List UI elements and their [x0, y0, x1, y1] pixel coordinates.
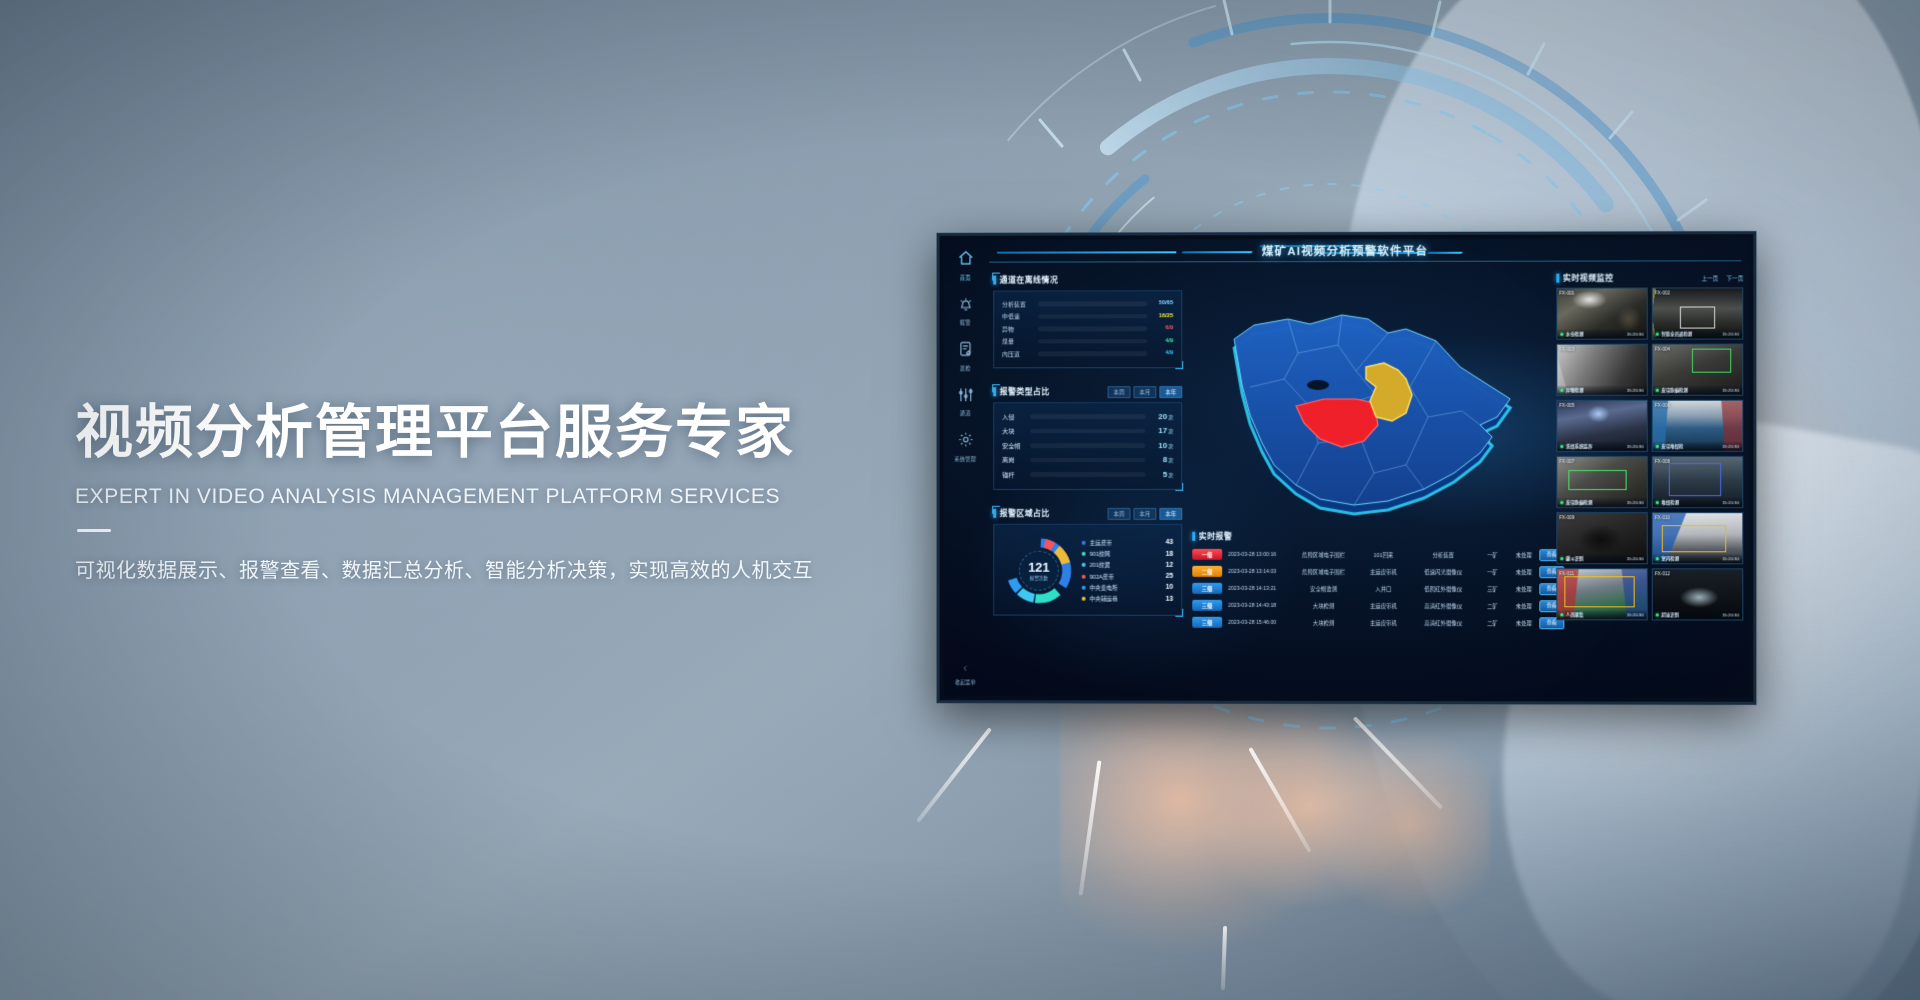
- alarm-level-badge: 一级: [1192, 549, 1222, 560]
- video-camera-id: FX-005: [1559, 402, 1574, 407]
- alarm-type-bar-track: [1030, 458, 1145, 462]
- status-dot-icon: [1656, 557, 1659, 560]
- video-name: 罐斗识别: [1566, 556, 1584, 562]
- legend-value: 10: [1166, 584, 1174, 591]
- alarm-status: 未处理: [1509, 551, 1539, 559]
- video-cell[interactable]: FX-011 人员聚集15:20:30: [1556, 568, 1647, 620]
- video-panel-header: 实时视频监控 上一页 下一页: [1556, 272, 1743, 283]
- alarm-device: 高清红外摄像仪: [1410, 602, 1476, 610]
- channel-value: 50/65: [1147, 301, 1173, 307]
- table-row[interactable]: 三级 2023-03-28 14:13:21 安全帽监测 入井口 低照红外摄像仪…: [1192, 580, 1564, 597]
- alarm-type-value: 5次: [1145, 470, 1173, 479]
- video-cell[interactable]: FX-012 超速识别15:20:30: [1652, 568, 1744, 620]
- video-camera-id: FX-008: [1655, 458, 1670, 463]
- legend-value: 13: [1166, 596, 1174, 603]
- video-name: 皮带跑偏检测: [1661, 387, 1688, 393]
- alarm-mine: 一矿: [1476, 568, 1508, 576]
- video-name: 皮带跑偏检测: [1566, 500, 1592, 506]
- video-camera-id: FX-003: [1559, 346, 1574, 351]
- alarm-device: 低照红外摄像仪: [1410, 585, 1476, 593]
- alarm-type-value: 10次: [1145, 441, 1173, 450]
- tab-area-this-month[interactable]: 本月: [1133, 507, 1156, 519]
- tab-area-this-year[interactable]: 本年: [1159, 507, 1182, 519]
- channel-name: 分析装置: [1002, 299, 1038, 308]
- status-dot-icon: [1560, 501, 1563, 504]
- alarm-table-title-wrap: 实时报警: [1192, 531, 1564, 542]
- alarm-device: 高清红外摄像仪: [1410, 619, 1476, 627]
- sidebar-item-channel[interactable]: 通道: [944, 386, 988, 417]
- legend-dot-icon: [1082, 563, 1086, 567]
- alarm-type-name: 离岗: [1002, 455, 1030, 464]
- sidebar-label-channel: 通道: [960, 410, 971, 417]
- alarm-area-tabs: 本周 本月 本年: [1107, 507, 1182, 519]
- legend-value: 43: [1166, 539, 1174, 546]
- channel-row: 分析装置 50/65: [1002, 297, 1173, 310]
- tab-this-year[interactable]: 本年: [1159, 386, 1182, 398]
- next-page-button[interactable]: 下一页: [1726, 274, 1743, 282]
- hero-description: 可视化数据展示、报警查看、数据汇总分析、智能分析决策，实现高效的人机交互: [75, 554, 895, 583]
- video-time: 15:20:30: [1722, 612, 1739, 617]
- alarm-time: 2023-03-28 13:00:16: [1222, 551, 1290, 557]
- sidebar-label-inspection: 巡检: [960, 365, 971, 372]
- alarm-type-row: 安全帽 10次: [1002, 438, 1173, 453]
- realtime-video-panel: 实时视频监控 上一页 下一页 FX-001 水仓检测15:20:30: [1556, 272, 1743, 691]
- sidebar-collapse-label: 收起菜单: [944, 679, 988, 686]
- alarm-location: 入井口: [1357, 585, 1411, 593]
- home-icon: [957, 250, 974, 272]
- panel-channel-body: 分析装置 50/65 中低速 16/25 异物 6/9: [993, 290, 1182, 368]
- panel-alarm-type-body: 入侵 20次 大块 17次 安全帽 10次 离: [993, 402, 1182, 489]
- sidebar-item-home[interactable]: 首页: [944, 250, 988, 281]
- alarm-type: 大块检测: [1291, 618, 1357, 626]
- dashboard-monitor: 煤矿AI视频分析预警软件平台 首页 报警 巡检: [937, 231, 1757, 705]
- video-cell[interactable]: FX-010 室内检测15:20:30: [1652, 512, 1744, 564]
- panel-tick-icon: [1192, 532, 1194, 541]
- legend-name: 主运皮带: [1090, 539, 1166, 547]
- video-time: 15:20:30: [1627, 388, 1644, 393]
- alarm-type-value: 20次: [1145, 412, 1173, 421]
- video-time: 15:20:30: [1627, 500, 1644, 505]
- alarm-type-value: 17次: [1145, 426, 1173, 435]
- video-name: 人员聚集: [1566, 612, 1584, 618]
- video-name: 水仓检测: [1566, 331, 1584, 337]
- video-camera-id: FX-001: [1559, 290, 1574, 295]
- video-time: 15:20:30: [1627, 556, 1644, 561]
- hero-text-block: 视频分析管理平台服务专家 EXPERT IN VIDEO ANALYSIS MA…: [75, 400, 895, 583]
- legend-name: 中央辅运巷: [1090, 595, 1166, 603]
- panel-tick-icon: [1556, 274, 1559, 283]
- panel-channel-status: 通道在离线情况 分析装置 50/65 中低速 16/25 异: [993, 273, 1182, 368]
- video-camera-id: FX-011: [1559, 571, 1574, 576]
- video-camera-id: FX-006: [1655, 402, 1670, 407]
- panel-tick-icon: [993, 509, 995, 518]
- video-cell[interactable]: FX-004 皮带跑偏检测15:20:30: [1652, 344, 1744, 396]
- alarm-type-name: 入侵: [1002, 412, 1030, 421]
- video-cell[interactable]: FX-003 异物检测15:20:30: [1556, 344, 1647, 396]
- video-camera-id: FX-007: [1559, 458, 1574, 463]
- video-name: 异物检测: [1566, 387, 1584, 393]
- alarm-type-bar-track: [1030, 472, 1145, 476]
- video-cell[interactable]: FX-009 罐斗识别15:20:30: [1556, 512, 1647, 564]
- panel-tick-icon: [993, 276, 995, 285]
- region-map[interactable]: [1192, 275, 1552, 545]
- channel-name: 异物: [1002, 324, 1038, 333]
- channel-name: 中低速: [1002, 312, 1038, 321]
- alarm-device: 低速闪光摄像仪: [1410, 568, 1476, 576]
- video-cell[interactable]: FX-005 洗煤系统监界15:20:30: [1556, 400, 1647, 452]
- alarm-type-tabs: 本周 本月 本年: [1107, 386, 1182, 398]
- alarm-status: 未处理: [1509, 619, 1539, 627]
- channel-bar-track: [1038, 326, 1147, 331]
- channel-name: 煤量: [1002, 337, 1038, 346]
- alarm-type-name: 大块: [1002, 426, 1030, 435]
- video-time: 15:20:30: [1722, 444, 1739, 449]
- video-cell[interactable]: FX-008 堆煤检测15:20:30: [1652, 456, 1744, 508]
- table-row[interactable]: 三级 2023-03-28 14:43:18 大块检测 主运皮带机 高清红外摄像…: [1192, 597, 1564, 614]
- panel-alarm-area: 报警区域占比 本周 本月 本年: [993, 507, 1182, 616]
- video-camera-id: FX-010: [1655, 515, 1670, 520]
- panel-channel-title: 通道在离线情况: [1000, 274, 1058, 285]
- alarm-status: 未处理: [1509, 602, 1539, 610]
- video-name: 室内检测: [1661, 556, 1679, 562]
- hero-subtitle-en: EXPERT IN VIDEO ANALYSIS MANAGEMENT PLAT…: [75, 485, 895, 509]
- alarm-icon: [957, 295, 974, 317]
- legend-name: 901绞网: [1090, 550, 1166, 558]
- alarm-type-row: 离岗 8次: [1002, 453, 1173, 467]
- video-time: 15:20:30: [1722, 388, 1739, 393]
- status-dot-icon: [1560, 389, 1563, 392]
- open-hand: [1060, 680, 1490, 980]
- alarm-status: 未处理: [1509, 568, 1539, 576]
- legend-item: 主运皮带 43: [1082, 537, 1174, 548]
- video-name: 智能全员通检测: [1661, 331, 1692, 337]
- collapse-icon: [961, 659, 969, 676]
- hero-divider: [77, 529, 111, 532]
- legend-dot-icon: [1082, 552, 1086, 556]
- alarm-mine: 一矿: [1476, 551, 1508, 559]
- alarm-time: 2023-03-28 14:43:18: [1222, 602, 1290, 608]
- alarm-level-badge: 三级: [1192, 600, 1222, 611]
- video-time: 15:20:30: [1722, 332, 1739, 337]
- alarm-device: 分析装置: [1410, 551, 1476, 559]
- channel-value: 4/9: [1147, 350, 1173, 356]
- video-cell[interactable]: FX-006 皮带堆煤检15:20:30: [1652, 400, 1744, 452]
- alarm-type-name: 安全帽: [1002, 441, 1030, 450]
- panel-alarm-area-body: 121 报警次数 主运皮带 43: [993, 524, 1182, 616]
- alarm-type: 大块检测: [1291, 601, 1357, 609]
- legend-name: 902A皮带: [1090, 572, 1166, 580]
- channel-row: 煤量 4/9: [1002, 335, 1173, 348]
- channel-bar-track: [1038, 351, 1147, 356]
- alarm-type-row: 大块 17次: [1002, 424, 1173, 439]
- channel-icon: [957, 386, 974, 408]
- status-dot-icon: [1656, 445, 1659, 448]
- channel-name: 内压道: [1002, 349, 1038, 358]
- channel-row: 内压道 4/9: [1002, 347, 1173, 360]
- video-camera-id: FX-009: [1559, 515, 1574, 520]
- video-camera-id: FX-002: [1655, 290, 1670, 295]
- donut-center: 121 报警次数: [1019, 551, 1059, 591]
- status-dot-icon: [1656, 333, 1659, 336]
- video-name: 超速识别: [1661, 612, 1679, 618]
- prev-page-button[interactable]: 上一页: [1701, 274, 1718, 282]
- alarm-type-row: 锚杆 5次: [1002, 467, 1173, 481]
- video-panel-title: 实时视频监控: [1563, 273, 1614, 284]
- alarm-level-badge: 三级: [1192, 617, 1222, 628]
- alarm-type: 安全帽监测: [1291, 584, 1357, 592]
- alarm-level-badge: 二级: [1192, 566, 1222, 577]
- table-row[interactable]: 一级 2023-03-28 13:00:16 危险区域电子围栏 101回采 分析…: [1192, 546, 1564, 563]
- panel-alarm-type: 报警类型占比 本周 本月 本年 入侵 20次 大块: [993, 385, 1182, 489]
- legend-name: 201绞翼: [1090, 561, 1166, 569]
- panel-tick-icon: [993, 387, 995, 396]
- sidebar-label-system-settings: 系统管理: [954, 456, 976, 463]
- panel-alarm-type-title-wrap: 报警类型占比: [993, 386, 1050, 397]
- panel-channel-title-wrap: 通道在离线情况: [993, 274, 1058, 285]
- legend-value: 18: [1166, 550, 1174, 557]
- alarm-type-bar-track: [1030, 414, 1145, 419]
- alarm-table-title: 实时报警: [1199, 531, 1233, 542]
- panel-alarm-area-title: 报警区域占比: [1000, 508, 1050, 519]
- sidebar-label-alarm: 报警: [960, 319, 971, 326]
- video-panel-title-wrap: 实时视频监控: [1556, 273, 1613, 284]
- alarm-location: 主运皮带机: [1357, 568, 1411, 576]
- legend-value: 12: [1166, 562, 1174, 569]
- legend-dot-icon: [1082, 541, 1086, 545]
- donut-center-label: 报警次数: [1030, 575, 1048, 581]
- panel-alarm-type-title: 报警类型占比: [1000, 386, 1050, 397]
- sidebar-label-home: 首页: [960, 274, 971, 281]
- legend-dot-icon: [1082, 586, 1086, 590]
- legend-name: 中央变电所: [1090, 584, 1166, 592]
- alarm-time: 2023-03-28 14:13:21: [1222, 585, 1290, 591]
- alarm-mine: 二矿: [1476, 602, 1508, 610]
- legend-item: 901绞网 18: [1082, 548, 1174, 559]
- channel-bar-track: [1038, 301, 1147, 306]
- inspection-icon: [957, 340, 974, 362]
- alarm-location: 主运皮带机: [1357, 602, 1411, 610]
- video-cell[interactable]: FX-001 水仓检测15:20:30: [1556, 288, 1647, 340]
- sidebar-collapse-button[interactable]: 收起菜单: [944, 659, 988, 686]
- channel-row: 异物 6/9: [1002, 322, 1173, 335]
- status-dot-icon: [1656, 501, 1659, 504]
- tab-this-month[interactable]: 本月: [1133, 386, 1156, 398]
- table-row[interactable]: 三级 2023-03-28 15:46:00 大块检测 主运皮带机 高清红外摄像…: [1192, 614, 1564, 632]
- alarm-type: 危险区域电子围栏: [1291, 550, 1357, 558]
- realtime-alarm-panel: 实时报警 一级 2023-03-28 13:00:16 危险区域电子围栏 101…: [1192, 531, 1564, 631]
- legend-item: 201绞翼 12: [1082, 559, 1174, 570]
- legend-item: 中央变电所 10: [1082, 582, 1174, 593]
- video-time: 15:20:30: [1627, 612, 1644, 617]
- status-dot-icon: [1560, 445, 1563, 448]
- legend-dot-icon: [1082, 597, 1086, 601]
- video-grid: FX-001 水仓检测15:20:30 FX-002 智能全员通检测15:20:…: [1556, 287, 1743, 620]
- video-camera-id: FX-004: [1655, 346, 1670, 351]
- status-dot-icon: [1656, 613, 1659, 616]
- alarm-status: 未处理: [1509, 585, 1539, 593]
- alarm-type-row: 入侵 20次: [1002, 409, 1173, 424]
- alarm-location: 主运皮带机: [1357, 619, 1411, 627]
- table-row[interactable]: 二级 2023-03-28 13:14:03 危险区域电子围栏 主运皮带机 低速…: [1192, 563, 1564, 580]
- channel-row: 中低速 16/25: [1002, 310, 1173, 323]
- legend-value: 25: [1166, 573, 1174, 580]
- alarm-level-badge: 三级: [1192, 583, 1222, 594]
- channel-bar-track: [1038, 314, 1147, 319]
- video-time: 15:20:30: [1627, 332, 1644, 337]
- video-name: 皮带堆煤检: [1661, 443, 1683, 449]
- sidebar-item-inspection[interactable]: 巡检: [944, 340, 988, 371]
- alarm-type-bar-track: [1030, 443, 1145, 448]
- page-title: 视频分析管理平台服务专家: [75, 400, 895, 467]
- tab-area-this-week[interactable]: 本周: [1107, 507, 1130, 519]
- tab-this-week[interactable]: 本周: [1107, 386, 1130, 398]
- video-cell[interactable]: FX-002 智能全员通检测15:20:30: [1652, 287, 1744, 339]
- channel-value: 4/9: [1147, 338, 1173, 344]
- channel-value: 16/25: [1147, 313, 1173, 319]
- sidebar-item-system-settings[interactable]: 系统管理: [944, 431, 988, 462]
- video-pager: 上一页 下一页: [1701, 274, 1743, 282]
- status-dot-icon: [1560, 557, 1563, 560]
- alarm-type: 危险区域电子围栏: [1291, 567, 1357, 575]
- alarm-location: 101回采: [1357, 551, 1411, 559]
- status-dot-icon: [1560, 333, 1563, 336]
- video-name: 洗煤系统监界: [1566, 443, 1592, 449]
- video-time: 15:20:30: [1722, 500, 1739, 505]
- status-dot-icon: [1656, 389, 1659, 392]
- gear-icon: [957, 431, 974, 453]
- alarm-area-legend: 主运皮带 43 901绞网 18 201绞翼 12: [1082, 537, 1174, 605]
- legend-item: 902A皮带 25: [1082, 571, 1174, 582]
- video-cell[interactable]: FX-007 皮带跑偏检测15:20:30: [1556, 456, 1647, 508]
- alarm-type-value: 8次: [1145, 455, 1173, 464]
- status-dot-icon: [1560, 613, 1563, 616]
- channel-value: 6/9: [1147, 325, 1173, 331]
- channel-bar-track: [1038, 339, 1147, 344]
- alarm-type-name: 锚杆: [1002, 470, 1030, 479]
- alarm-time: 2023-03-28 15:46:00: [1222, 619, 1290, 625]
- dashboard-screen: 煤矿AI视频分析预警软件平台 首页 报警 巡检: [944, 238, 1750, 698]
- dashboard-sidebar: 首页 报警 巡检 通道: [944, 240, 988, 697]
- alarm-type-bar-track: [1030, 429, 1145, 434]
- legend-item: 中央辅运巷 13: [1082, 593, 1174, 604]
- alarm-area-donut-chart: 121 报警次数: [1002, 534, 1076, 608]
- panel-alarm-area-title-wrap: 报警区域占比: [993, 508, 1050, 519]
- video-time: 15:20:30: [1722, 556, 1739, 561]
- dashboard-topbar: 煤矿AI视频分析预警软件平台: [944, 238, 1750, 270]
- sidebar-item-alarm[interactable]: 报警: [944, 295, 988, 326]
- donut-center-value: 121: [1028, 560, 1050, 573]
- video-name: 堆煤检测: [1661, 500, 1679, 506]
- legend-dot-icon: [1082, 574, 1086, 578]
- video-camera-id: FX-012: [1655, 571, 1670, 576]
- alarm-mine: 二矿: [1476, 619, 1508, 627]
- dashboard-title: 煤矿AI视频分析预警软件平台: [944, 242, 1750, 260]
- video-time: 15:20:30: [1627, 444, 1644, 449]
- alarm-time: 2023-03-28 13:14:03: [1222, 568, 1290, 574]
- alarm-mine: 三矿: [1476, 585, 1508, 593]
